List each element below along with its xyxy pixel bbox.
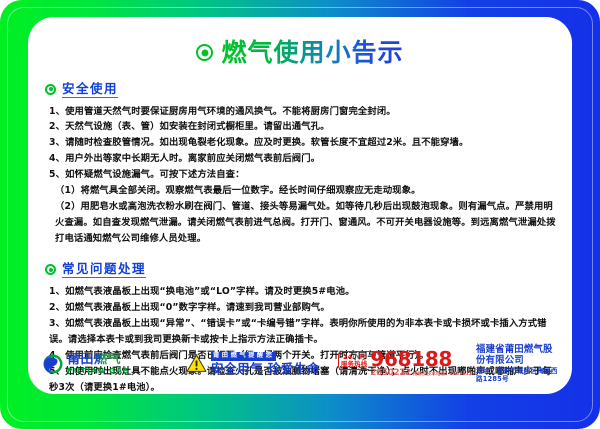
bullseye-icon — [196, 44, 213, 61]
section-safety-usage: 安全使用 1、使用管道天然气时要保证厨房用气环境的通风换气。不能将厨房门窗完全封… — [45, 81, 560, 248]
section-heading-row: 常见问题处理 — [45, 261, 560, 278]
bullseye-icon — [45, 84, 56, 95]
hotline-number: 968188 — [370, 349, 472, 369]
logo-text-block: 莆田燃气 PUTIAN GAS — [67, 353, 130, 375]
hotline-repair-note: 抢修及技术电话：2652111 — [413, 371, 472, 377]
list-item: （2）用肥皂水或高泡洗衣粉水刷在阀门、管道、接头等易漏气处。如等待几秒后出现鼓泡… — [55, 199, 560, 247]
hotline-sub-row: 2650222 抢修及技术电话：2652111 — [370, 368, 472, 378]
slogan-big-text: 安全用气 珍爱生命 — [211, 363, 320, 376]
slogan-small-text: 莆田燃气提醒您 — [211, 352, 276, 361]
list-item: 1、使用管道天然气时要保证厨房用气环境的通风换气。不能将厨房门窗完全封闭。 — [49, 104, 560, 120]
gas-swirl-logo-icon — [42, 353, 64, 375]
company-logo: 莆田燃气 PUTIAN GAS — [42, 353, 174, 375]
list-item: 1、如燃气表液晶板上出现“换电池”或“LO”字样。请及时更换5#电池。 — [49, 284, 560, 300]
company-address: 地址：莆田市城厢区梅园西路1285号 — [476, 368, 558, 384]
section-heading-row: 安全使用 — [45, 81, 560, 98]
list-item: （1）将燃气具全部关闭。观察燃气表最后一位数字。经长时间仔细观察应无走动现象。 — [55, 183, 560, 199]
section-item-list: 1、使用管道天然气时要保证厨房用气环境的通风换气。不能将厨房门窗完全封闭。 2、… — [45, 104, 560, 248]
warning-triangle-icon — [186, 354, 207, 373]
company-info-block: 福建省莆田燃气股份有限公司 地址：莆田市城厢区梅园西路1285号 — [470, 344, 558, 384]
section-title: 常见问题处理 — [62, 261, 146, 278]
bullseye-icon — [45, 264, 56, 275]
hotline-secondary-number: 2650222 — [370, 368, 410, 378]
service-hotline-block: 24小时 服务热线 968188 2650222 抢修及技术电话：2652111 — [338, 349, 470, 378]
list-item: 2、天然气设施（表、管）如安装在封闭式橱柜里。请留出通气孔。 — [49, 119, 560, 135]
list-item: 5、如怀疑燃气设施漏气。可按下述方法自查： — [49, 167, 560, 183]
list-item: 2、如燃气表液晶板上出现“0”数字字样。请速到我司营业部购气。 — [49, 300, 560, 316]
list-item: 4、用户外出等家中长期无人时。离家前应关闭燃气表前后阀门。 — [49, 151, 560, 167]
poster-footer: 莆田燃气 PUTIAN GAS 莆田燃气提醒您 安全用气 珍爱生命 24小时 — [28, 344, 572, 384]
hotline-badge-line2: 服务热线 — [341, 361, 367, 368]
poster-card: 燃气使用小告示 安全使用 1、使用管道天然气时要保证厨房用气环境的通风换气。不能… — [28, 17, 572, 394]
logo-chinese-name: 莆田燃气 — [67, 353, 130, 366]
list-item: 3、请随时检查胶管情况。如出现龟裂老化现象。应及时更换。软管长度不宜超过2米。且… — [49, 135, 560, 151]
page-title: 燃气使用小告示 — [221, 39, 403, 67]
poster-background: 燃气使用小告示 安全使用 1、使用管道天然气时要保证厨房用气环境的通风换气。不能… — [0, 0, 600, 429]
hotline-numbers: 968188 2650222 抢修及技术电话：2652111 — [370, 349, 472, 378]
slogan-text-block: 莆田燃气提醒您 安全用气 珍爱生命 — [211, 352, 320, 375]
hotline-badge: 24小时 服务热线 — [338, 351, 369, 369]
section-title: 安全使用 — [62, 81, 118, 98]
logo-english-name: PUTIAN GAS — [67, 367, 130, 374]
safety-slogan-block: 莆田燃气提醒您 安全用气 珍爱生命 — [186, 352, 328, 375]
poster-title-row: 燃气使用小告示 — [28, 39, 572, 67]
company-name: 福建省莆田燃气股份有限公司 — [476, 344, 558, 367]
